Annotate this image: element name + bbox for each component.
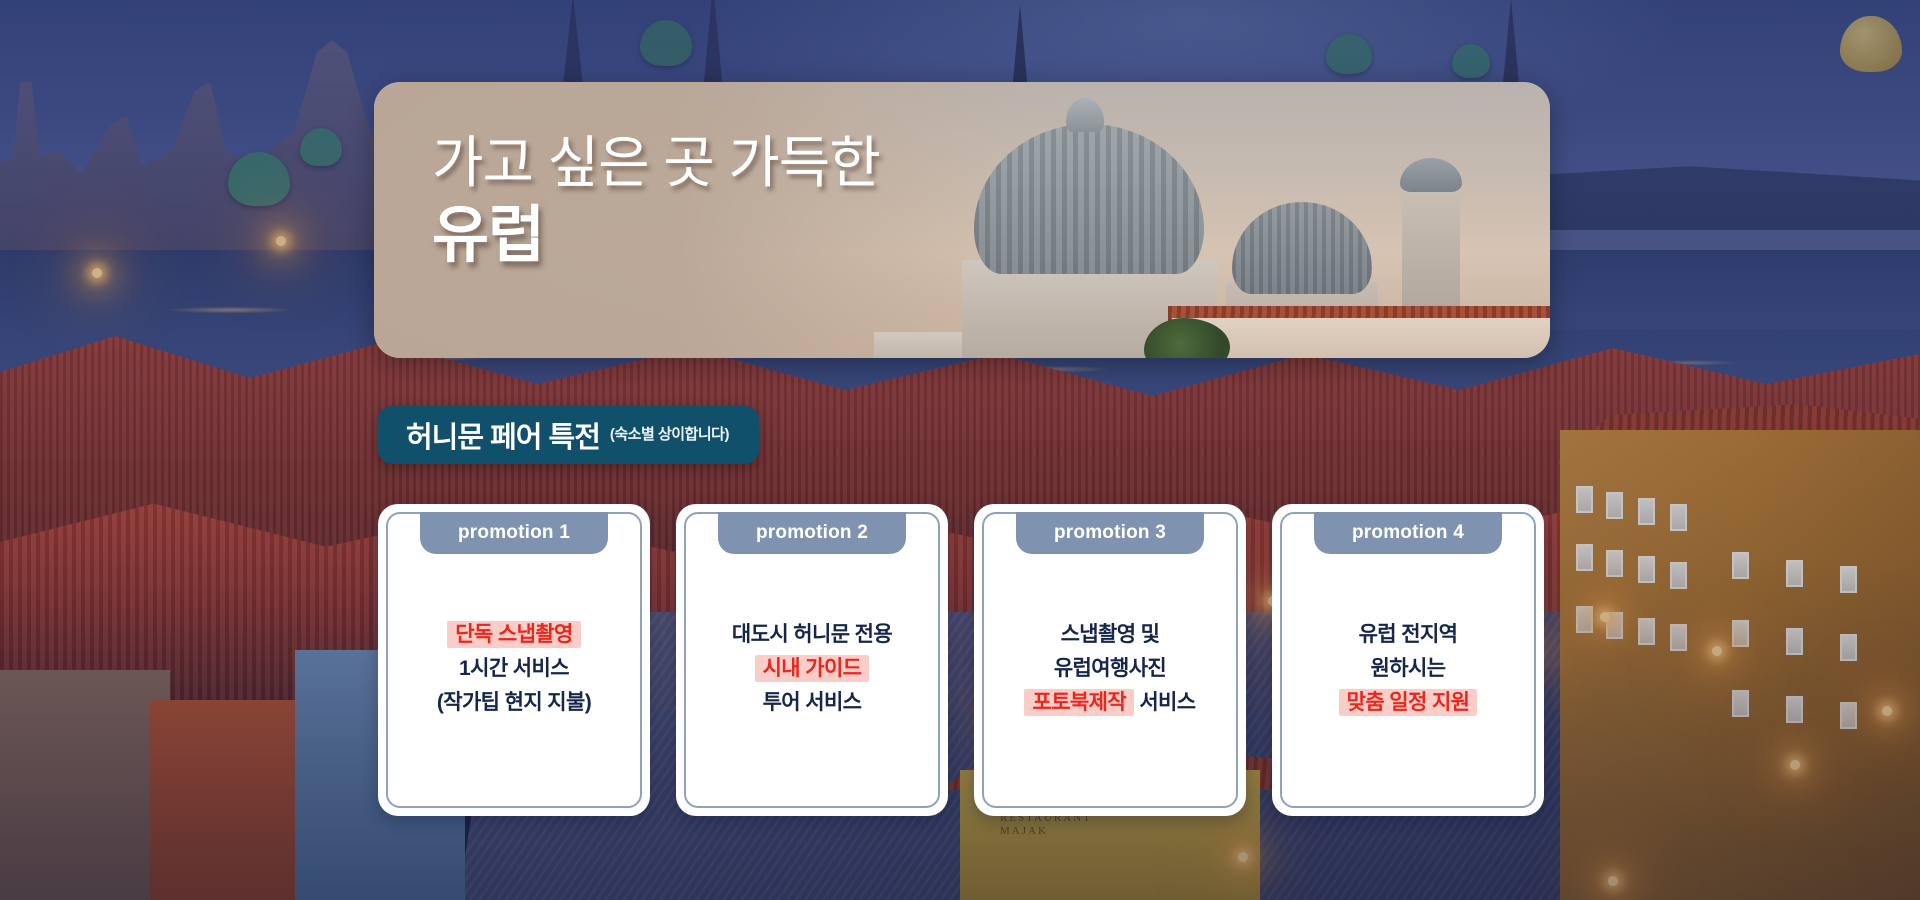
- promotion-card-line: 시내 가이드: [732, 652, 892, 686]
- building-window: [1638, 498, 1655, 525]
- street-lamp-icon: [1238, 852, 1248, 862]
- promotion-card[interactable]: promotion 1단독 스냅촬영1시간 서비스(작가팁 현지 지불): [378, 504, 650, 816]
- street-lamp-icon: [1790, 760, 1800, 770]
- promotion-highlight-text: 단독 스냅촬영: [447, 621, 581, 648]
- building-window: [1670, 624, 1687, 651]
- promotion-card[interactable]: promotion 2대도시 허니문 전용시내 가이드투어 서비스: [676, 504, 948, 816]
- hero-title: 유럽: [432, 200, 880, 271]
- promotion-card-line: 유럽여행사진: [1024, 652, 1195, 686]
- promotion-card-tab-label: promotion 1: [458, 522, 570, 544]
- promotion-card-body: 대도시 허니문 전용시내 가이드투어 서비스: [732, 600, 892, 720]
- hero-subtitle: 가고 싶은 곳 가득한: [432, 130, 880, 196]
- street-lamp-icon: [1600, 612, 1610, 622]
- section-badge-title: 허니문 페어 특전: [406, 414, 600, 456]
- street-lamp-icon: [1882, 706, 1892, 716]
- promotion-page: CAFERESTAURANTMAJAK 가고 싶은 곳 가득한 유럽 허니문 페: [0, 0, 1920, 900]
- promotion-card-tab: promotion 3: [1016, 512, 1204, 554]
- building-window: [1840, 566, 1857, 593]
- promotion-card-tab: promotion 1: [420, 512, 608, 554]
- building-window: [1840, 634, 1857, 661]
- left-house: [0, 670, 170, 900]
- basilica-lantern-icon: [1066, 98, 1104, 132]
- building-window: [1670, 562, 1687, 589]
- promotion-card-tab-label: promotion 4: [1352, 522, 1464, 544]
- copper-dome-icon: [1326, 34, 1372, 74]
- hero-banner: 가고 싶은 곳 가득한 유럽: [374, 82, 1550, 358]
- copper-dome-icon: [1452, 44, 1490, 78]
- promotion-card-inner: promotion 2대도시 허니문 전용시내 가이드투어 서비스: [684, 512, 940, 808]
- promotion-card-body: 유럽 전지역원하시는맞춤 일정 지원: [1339, 600, 1478, 720]
- promotion-card-line: 1시간 서비스: [437, 652, 591, 686]
- bell-tower-cap-icon: [1400, 158, 1462, 192]
- street-lamp-icon: [276, 236, 286, 246]
- section-badge-note: (숙소별 상이합니다): [610, 423, 729, 447]
- promotion-card-inner: promotion 1단독 스냅촬영1시간 서비스(작가팁 현지 지불): [386, 512, 642, 808]
- basilica-dome-icon: [974, 124, 1204, 274]
- copper-dome-icon: [300, 128, 342, 166]
- promotion-card-line: (작가팁 현지 지불): [437, 686, 591, 720]
- promotion-card-line: 투어 서비스: [732, 686, 892, 720]
- promotion-card-list: promotion 1단독 스냅촬영1시간 서비스(작가팁 현지 지불)prom…: [378, 504, 1544, 816]
- promotion-card-line: 맞춤 일정 지원: [1339, 686, 1478, 720]
- promotion-card[interactable]: promotion 4유럽 전지역원하시는맞춤 일정 지원: [1272, 504, 1544, 816]
- building-window: [1840, 702, 1857, 729]
- building-window: [1732, 690, 1749, 717]
- section-badge: 허니문 페어 특전 (숙소별 상이합니다): [378, 406, 759, 464]
- building-window: [1576, 606, 1593, 633]
- promotion-card-tab-label: promotion 3: [1054, 522, 1166, 544]
- promotion-card[interactable]: promotion 3스냅촬영 및유럽여행사진포토북제작 서비스: [974, 504, 1246, 816]
- building-window: [1786, 696, 1803, 723]
- building-window: [1606, 550, 1623, 577]
- building-window: [1606, 492, 1623, 519]
- promotion-card-body: 단독 스냅촬영1시간 서비스(작가팁 현지 지불): [437, 600, 591, 720]
- building-window: [1732, 552, 1749, 579]
- hero-text-block: 가고 싶은 곳 가득한 유럽: [432, 130, 880, 271]
- promotion-card-line: 대도시 허니문 전용: [732, 618, 892, 652]
- street-lamp-icon: [92, 268, 102, 278]
- promotion-card-line: 원하시는: [1339, 652, 1478, 686]
- copper-dome-icon: [640, 20, 692, 66]
- promotion-card-body: 스냅촬영 및유럽여행사진포토북제작 서비스: [1024, 600, 1195, 720]
- building-window: [1670, 504, 1687, 531]
- promotion-card-line: 스냅촬영 및: [1024, 618, 1195, 652]
- promotion-card-line: 단독 스냅촬영: [437, 618, 591, 652]
- promotion-line-suffix: 서비스: [1134, 691, 1195, 714]
- building-window: [1786, 560, 1803, 587]
- promotion-card-inner: promotion 3스냅촬영 및유럽여행사진포토북제작 서비스: [982, 512, 1238, 808]
- building-window: [1576, 486, 1593, 513]
- promotion-card-tab: promotion 2: [718, 512, 906, 554]
- building-window: [1576, 544, 1593, 571]
- building-window: [1638, 556, 1655, 583]
- building-window: [1786, 628, 1803, 655]
- promotion-highlight-text: 맞춤 일정 지원: [1339, 689, 1478, 716]
- street-lamp-icon: [1608, 876, 1618, 886]
- promotion-highlight-text: 시내 가이드: [755, 655, 870, 682]
- promotion-card-inner: promotion 4유럽 전지역원하시는맞춤 일정 지원: [1280, 512, 1536, 808]
- promotion-card-line: 포토북제작 서비스: [1024, 686, 1195, 720]
- promotion-card-tab: promotion 4: [1314, 512, 1502, 554]
- building-window: [1638, 618, 1655, 645]
- promotion-card-line: 유럽 전지역: [1339, 618, 1478, 652]
- promotion-highlight-text: 포토북제작: [1024, 689, 1134, 716]
- promotion-card-tab-label: promotion 2: [756, 522, 868, 544]
- basilica-secondary-dome-icon: [1232, 202, 1372, 294]
- street-lamp-icon: [1712, 646, 1722, 656]
- building-window: [1732, 620, 1749, 647]
